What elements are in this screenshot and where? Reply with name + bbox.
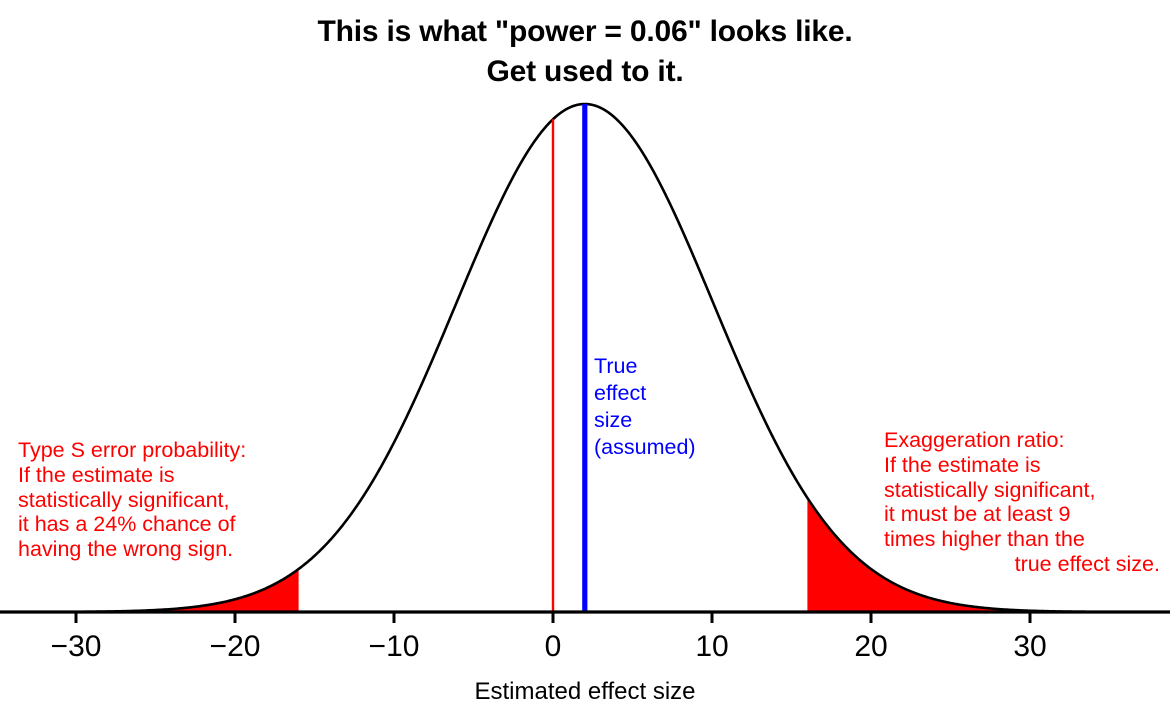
annotation-line: statistically significant, — [18, 488, 246, 513]
annotation-line: it has a 24% chance of — [18, 512, 246, 537]
x-axis-ticks-group — [76, 612, 1030, 623]
x-tick-label: 30 — [1013, 630, 1046, 664]
annotation-line: having the wrong sign. — [18, 537, 246, 562]
x-axis-label: Estimated effect size — [0, 678, 1170, 706]
annotation-line-last: true effect size. — [884, 552, 1160, 577]
annotation-line: If the estimate is — [18, 463, 246, 488]
x-tick-label: −20 — [210, 630, 261, 664]
exaggeration-ratio-annotation: Exaggeration ratio:If the estimate issta… — [884, 428, 1160, 577]
annotation-line: Exaggeration ratio: — [884, 428, 1160, 453]
annotation-line: effect — [594, 380, 696, 407]
x-tick-label: 20 — [854, 630, 887, 664]
annotation-line: statistically significant, — [884, 478, 1160, 503]
annotation-line: size — [594, 407, 696, 434]
annotation-line: it must be at least 9 — [884, 502, 1160, 527]
annotation-line: (assumed) — [594, 434, 696, 461]
x-tick-label: −30 — [51, 630, 102, 664]
x-tick-label: 10 — [695, 630, 728, 664]
true-effect-size-label: Trueeffectsize(assumed) — [594, 353, 696, 461]
type-s-error-annotation: Type S error probability:If the estimate… — [18, 438, 246, 562]
left-significance-tail-shape — [0, 569, 299, 612]
x-tick-label: 0 — [545, 630, 562, 664]
annotation-line: Type S error probability: — [18, 438, 246, 463]
distribution-plot — [0, 0, 1170, 710]
figure-canvas: This is what "power = 0.06" looks like. … — [0, 0, 1170, 710]
x-tick-label: −10 — [369, 630, 420, 664]
annotation-line: times higher than the — [884, 527, 1160, 552]
annotation-line: If the estimate is — [884, 453, 1160, 478]
annotation-line: True — [594, 353, 696, 380]
